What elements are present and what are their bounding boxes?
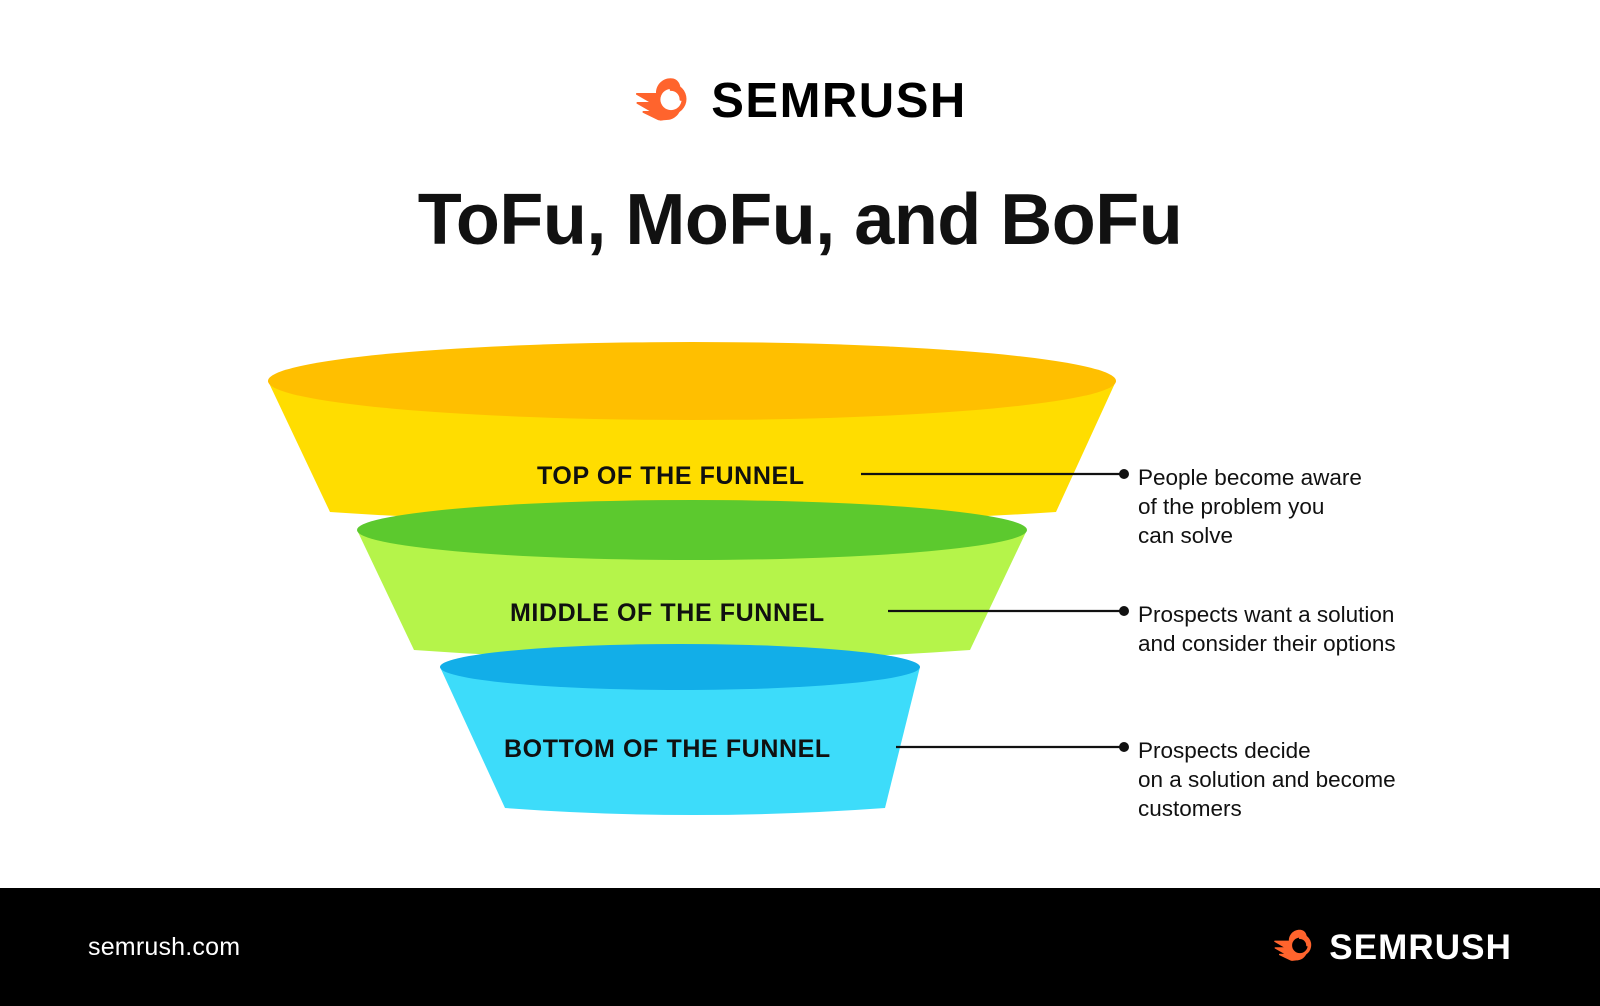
brand-wordmark: SEMRUSH xyxy=(711,77,967,126)
bofu-top-ellipse xyxy=(440,644,920,690)
description-tofu-line-3: can solve xyxy=(1138,521,1233,550)
footer-bar: semrush.com SEMRUSH xyxy=(0,888,1600,1006)
mofu-top-ellipse xyxy=(357,500,1027,560)
description-mofu-line-2: and consider their options xyxy=(1138,629,1396,658)
semrush-comet-icon xyxy=(633,76,693,127)
description-mofu-line-1: Prospects want a solution xyxy=(1138,600,1394,629)
description-bofu-line-3: customers xyxy=(1138,794,1242,823)
connector-tofu xyxy=(861,469,1129,479)
funnel-diagram: TOP OF THE FUNNEL MIDDLE OF THE FUNNEL B… xyxy=(0,0,1600,1006)
description-bofu-line-1: Prospects decide xyxy=(1138,736,1311,765)
funnel-segment-tofu xyxy=(268,342,1116,524)
infographic-page: SEMRUSH ToFu, MoFu, and BoFu TOP OF THE … xyxy=(0,0,1600,1006)
semrush-comet-icon xyxy=(1272,928,1316,967)
bofu-body xyxy=(440,667,920,815)
mofu-body xyxy=(357,530,1027,660)
footer-url[interactable]: semrush.com xyxy=(88,933,240,962)
description-tofu-line-2: of the problem you xyxy=(1138,492,1324,521)
page-title: ToFu, MoFu, and BoFu xyxy=(0,183,1600,259)
header-logo: SEMRUSH xyxy=(0,76,1600,127)
connector-mofu xyxy=(888,606,1129,616)
footer-wordmark: SEMRUSH xyxy=(1329,930,1512,965)
description-tofu-line-1: People become aware xyxy=(1138,463,1362,492)
description-bofu-line-2: on a solution and become xyxy=(1138,765,1396,794)
funnel-label-bofu: BOTTOM OF THE FUNNEL xyxy=(504,735,831,763)
funnel-label-tofu: TOP OF THE FUNNEL xyxy=(537,462,805,490)
connector-bofu xyxy=(896,742,1129,752)
tofu-body xyxy=(268,381,1116,524)
funnel-segment-mofu xyxy=(357,500,1027,660)
funnel-segment-bofu xyxy=(440,644,920,815)
tofu-top-ellipse xyxy=(268,342,1116,420)
footer-logo: SEMRUSH xyxy=(1272,928,1512,967)
funnel-label-mofu: MIDDLE OF THE FUNNEL xyxy=(510,599,825,627)
